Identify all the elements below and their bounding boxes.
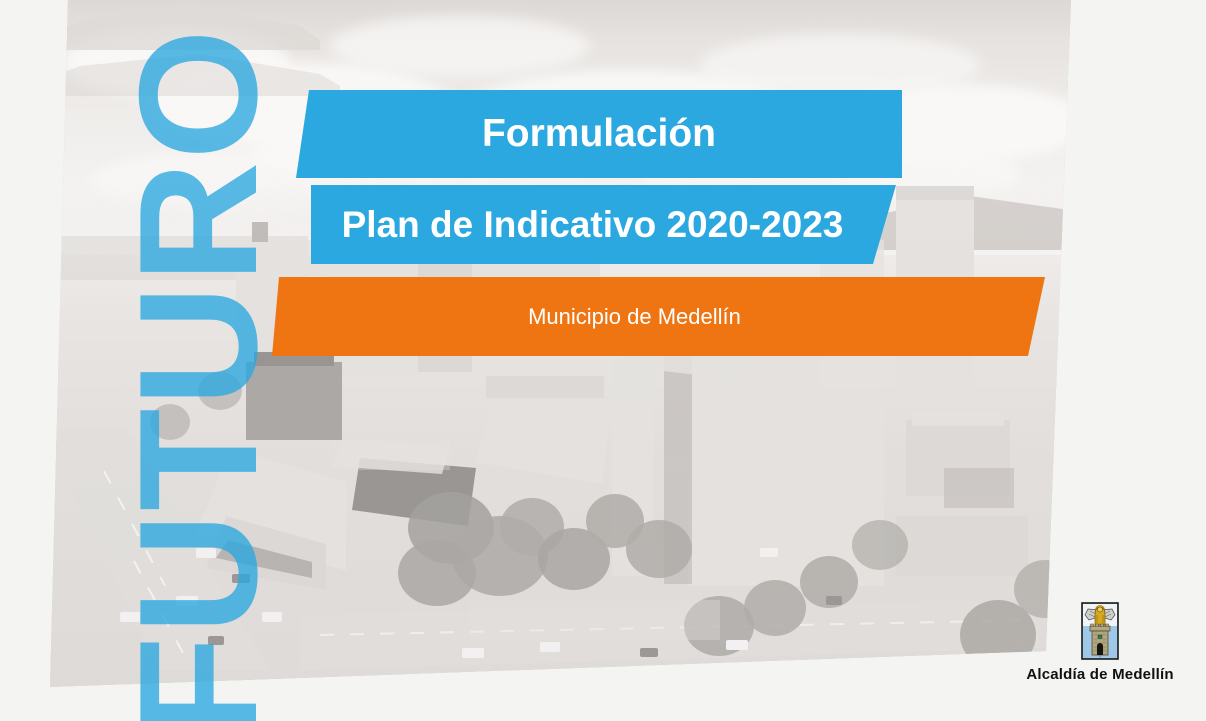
title-banner: Formulación [296,90,902,178]
title-banner-label: Formulación [482,112,716,156]
subtitle-banner-label: Plan de Indicativo 2020-2023 [342,204,844,246]
alcaldia-logo: Alcaldía de Medellín [1010,602,1190,683]
medellin-coat-of-arms-icon [1081,602,1119,660]
entity-banner-label: Municipio de Medellín [528,304,741,330]
alcaldia-logo-caption: Alcaldía de Medellín [1010,666,1190,683]
presentation-slide: FUTURO Formulación Plan de Indicativo 20… [0,0,1206,721]
entity-banner: Municipio de Medellín [272,277,1045,356]
subtitle-banner: Plan de Indicativo 2020-2023 [311,185,896,264]
